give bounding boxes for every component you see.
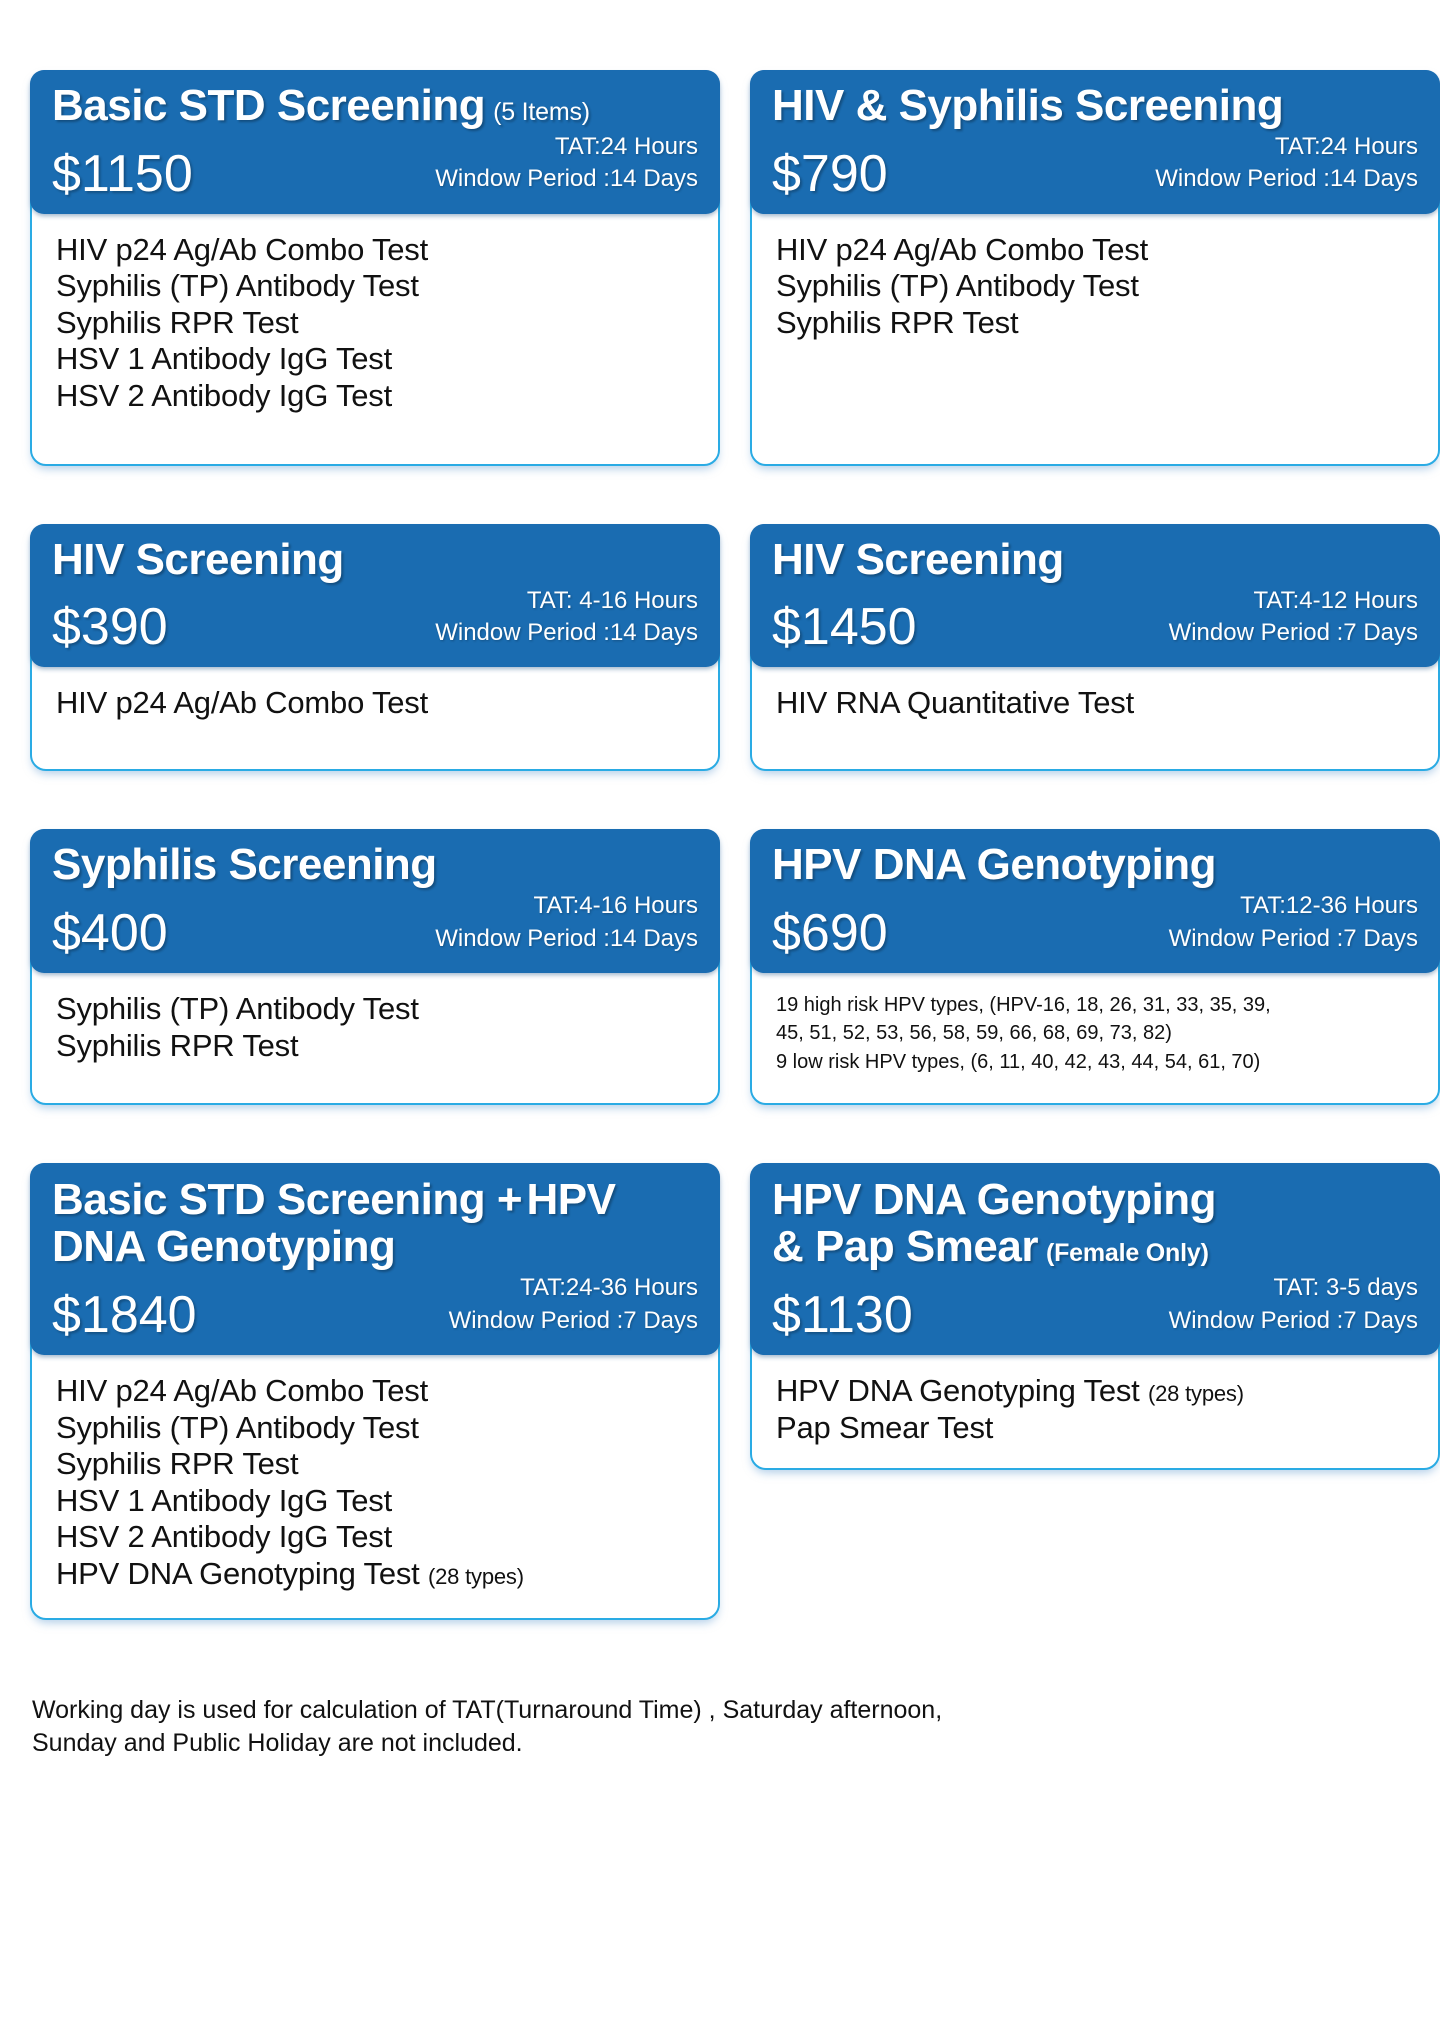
tat-value: TAT:12-36 Hours bbox=[1169, 890, 1418, 922]
package-title-note: (Female Only) bbox=[1046, 1239, 1209, 1267]
tat-value: TAT:24 Hours bbox=[1155, 131, 1418, 163]
package-card-hpv-pap-smear[interactable]: HPV DNA Genotyping & Pap Smear(Female On… bbox=[750, 1163, 1440, 1470]
footer-note-line2: Sunday and Public Holiday are not includ… bbox=[32, 1727, 1312, 1760]
meta-row: $790 TAT:24 Hours Window Period :14 Days bbox=[772, 131, 1418, 200]
test-item: Syphilis (TP) Antibody Test bbox=[56, 268, 694, 305]
test-item: Syphilis (TP) Antibody Test bbox=[776, 268, 1414, 305]
package-title: Basic STD Screening bbox=[52, 81, 485, 130]
tat-block: TAT:24 Hours Window Period :14 Days bbox=[1155, 131, 1418, 200]
package-price: $1130 bbox=[772, 1289, 913, 1341]
window-period-value: Window Period :14 Days bbox=[435, 163, 698, 195]
hpv-types-line: 45, 51, 52, 53, 56, 58, 59, 66, 68, 69, … bbox=[776, 1019, 1414, 1047]
hpv-types-line: 19 high risk HPV types, (HPV-16, 18, 26,… bbox=[776, 991, 1414, 1019]
tat-value: TAT:24-36 Hours bbox=[449, 1272, 698, 1304]
package-price: $1150 bbox=[52, 148, 193, 200]
card-body: HIV RNA Quantitative Test bbox=[752, 667, 1438, 769]
meta-row: $400 TAT:4-16 Hours Window Period :14 Da… bbox=[52, 890, 698, 959]
package-title: HPV DNA Genotyping bbox=[772, 840, 1216, 889]
meta-row: $1840 TAT:24-36 Hours Window Period :7 D… bbox=[52, 1272, 698, 1341]
footer-note-line1: Working day is used for calculation of T… bbox=[32, 1694, 1312, 1727]
test-item: HSV 2 Antibody IgG Test bbox=[56, 1519, 694, 1556]
tat-block: TAT: 3-5 days Window Period :7 Days bbox=[1169, 1272, 1418, 1341]
test-item: Syphilis (TP) Antibody Test bbox=[56, 1410, 694, 1447]
tat-value: TAT:24 Hours bbox=[435, 131, 698, 163]
test-item: HPV DNA Genotyping Test (28 types) bbox=[56, 1556, 694, 1593]
hpv-types-line: 9 low risk HPV types, (6, 11, 40, 42, 43… bbox=[776, 1048, 1414, 1076]
package-card-hiv-syphilis-screening[interactable]: HIV & Syphilis Screening $790 TAT:24 Hou… bbox=[750, 70, 1440, 466]
tat-block: TAT:24 Hours Window Period :14 Days bbox=[435, 131, 698, 200]
window-period-value: Window Period :7 Days bbox=[449, 1305, 698, 1337]
window-period-value: Window Period :14 Days bbox=[435, 617, 698, 649]
price-list-page: Basic STD Screening(5 Items) $1150 TAT:2… bbox=[0, 0, 1440, 2036]
tat-block: TAT:12-36 Hours Window Period :7 Days bbox=[1169, 890, 1418, 959]
package-title-note: (5 Items) bbox=[493, 98, 590, 126]
package-title-line2-row: & Pap Smear(Female Only) bbox=[772, 1224, 1418, 1271]
card-header: Syphilis Screening $400 TAT:4-16 Hours W… bbox=[30, 829, 720, 973]
package-title: HIV Screening bbox=[52, 535, 344, 584]
package-title-line2: & Pap Smear bbox=[772, 1222, 1038, 1271]
card-body: HIV p24 Ag/Ab Combo Test Syphilis (TP) A… bbox=[32, 1355, 718, 1618]
title-row: HIV & Syphilis Screening bbox=[772, 84, 1418, 129]
test-item: HPV DNA Genotyping Test (28 types) bbox=[776, 1373, 1414, 1410]
package-card-hiv-screening-390[interactable]: HIV Screening $390 TAT: 4-16 Hours Windo… bbox=[30, 524, 720, 772]
package-grid: Basic STD Screening(5 Items) $1150 TAT:2… bbox=[30, 70, 1410, 1678]
title-row: HPV DNA Genotyping & Pap Smear(Female On… bbox=[772, 1177, 1418, 1270]
test-item-label: HPV DNA Genotyping Test bbox=[56, 1556, 420, 1591]
title-row: Syphilis Screening bbox=[52, 843, 698, 888]
package-card-basic-std-plus-hpv[interactable]: Basic STD Screening + HPV DNA Genotyping… bbox=[30, 1163, 720, 1621]
package-price: $390 bbox=[52, 601, 168, 653]
package-title-line1: HPV DNA Genotyping bbox=[772, 1175, 1216, 1224]
test-item: Syphilis RPR Test bbox=[56, 305, 694, 342]
card-body: HIV p24 Ag/Ab Combo Test Syphilis (TP) A… bbox=[752, 214, 1438, 464]
tat-value: TAT:4-16 Hours bbox=[435, 890, 698, 922]
package-card-basic-std-screening[interactable]: Basic STD Screening(5 Items) $1150 TAT:2… bbox=[30, 70, 720, 466]
window-period-value: Window Period :14 Days bbox=[435, 923, 698, 955]
card-header: HPV DNA Genotyping $690 TAT:12-36 Hours … bbox=[750, 829, 1440, 973]
card-body: Syphilis (TP) Antibody Test Syphilis RPR… bbox=[32, 973, 718, 1103]
package-title: HIV & Syphilis Screening bbox=[772, 81, 1283, 130]
card-header: Basic STD Screening(5 Items) $1150 TAT:2… bbox=[30, 70, 720, 214]
card-body: HIV p24 Ag/Ab Combo Test bbox=[32, 667, 718, 769]
title-row: HIV Screening bbox=[52, 538, 698, 583]
test-item: Syphilis RPR Test bbox=[56, 1028, 694, 1065]
test-item: HSV 1 Antibody IgG Test bbox=[56, 341, 694, 378]
tat-value: TAT: 3-5 days bbox=[1169, 1272, 1418, 1304]
test-item: HIV p24 Ag/Ab Combo Test bbox=[56, 1373, 694, 1410]
meta-row: $1450 TAT:4-12 Hours Window Period :7 Da… bbox=[772, 585, 1418, 654]
window-period-value: Window Period :7 Days bbox=[1169, 1305, 1418, 1337]
title-row: HIV Screening bbox=[772, 538, 1418, 583]
title-row: Basic STD Screening(5 Items) bbox=[52, 84, 698, 129]
tat-block: TAT:4-16 Hours Window Period :14 Days bbox=[435, 890, 698, 959]
meta-row: $390 TAT: 4-16 Hours Window Period :14 D… bbox=[52, 585, 698, 654]
package-price: $1840 bbox=[52, 1289, 197, 1341]
test-item-label: HPV DNA Genotyping Test bbox=[776, 1373, 1140, 1408]
test-item: Pap Smear Test bbox=[776, 1410, 1414, 1447]
test-item: Syphilis RPR Test bbox=[776, 305, 1414, 342]
package-card-syphilis-screening[interactable]: Syphilis Screening $400 TAT:4-16 Hours W… bbox=[30, 829, 720, 1105]
package-price: $1450 bbox=[772, 601, 917, 653]
window-period-value: Window Period :7 Days bbox=[1169, 617, 1418, 649]
test-item-note: (28 types) bbox=[1148, 1381, 1244, 1406]
package-title: HIV Screening bbox=[772, 535, 1064, 584]
title-row: HPV DNA Genotyping bbox=[772, 843, 1418, 888]
tat-block: TAT: 4-16 Hours Window Period :14 Days bbox=[435, 585, 698, 654]
package-price: $790 bbox=[772, 148, 888, 200]
package-card-hpv-dna-genotyping[interactable]: HPV DNA Genotyping $690 TAT:12-36 Hours … bbox=[750, 829, 1440, 1105]
card-header: HIV Screening $1450 TAT:4-12 Hours Windo… bbox=[750, 524, 1440, 668]
grid-column-left: Basic STD Screening(5 Items) $1150 TAT:2… bbox=[30, 70, 720, 1678]
tat-value: TAT:4-12 Hours bbox=[1169, 585, 1418, 617]
test-item: HSV 2 Antibody IgG Test bbox=[56, 378, 694, 415]
test-item: HIV p24 Ag/Ab Combo Test bbox=[56, 232, 694, 269]
window-period-value: Window Period :14 Days bbox=[1155, 163, 1418, 195]
tat-block: TAT:24-36 Hours Window Period :7 Days bbox=[449, 1272, 698, 1341]
meta-row: $690 TAT:12-36 Hours Window Period :7 Da… bbox=[772, 890, 1418, 959]
footer-note: Working day is used for calculation of T… bbox=[32, 1694, 1312, 1759]
card-header: HIV & Syphilis Screening $790 TAT:24 Hou… bbox=[750, 70, 1440, 214]
card-body: HPV DNA Genotyping Test (28 types) Pap S… bbox=[752, 1355, 1438, 1468]
test-item: Syphilis (TP) Antibody Test bbox=[56, 991, 694, 1028]
title-row: Basic STD Screening + HPV DNA Genotyping bbox=[52, 1177, 698, 1270]
package-price: $690 bbox=[772, 907, 888, 959]
card-header: Basic STD Screening + HPV DNA Genotyping… bbox=[30, 1163, 720, 1355]
card-body: 19 high risk HPV types, (HPV-16, 18, 26,… bbox=[752, 973, 1438, 1103]
test-item: HIV p24 Ag/Ab Combo Test bbox=[776, 232, 1414, 269]
tat-block: TAT:4-12 Hours Window Period :7 Days bbox=[1169, 585, 1418, 654]
grid-column-right: HIV & Syphilis Screening $790 TAT:24 Hou… bbox=[750, 70, 1440, 1528]
test-item: HIV RNA Quantitative Test bbox=[776, 685, 1414, 722]
test-item-note: (28 types) bbox=[428, 1564, 524, 1589]
test-item: HIV p24 Ag/Ab Combo Test bbox=[56, 685, 694, 722]
package-title: Syphilis Screening bbox=[52, 840, 437, 889]
window-period-value: Window Period :7 Days bbox=[1169, 923, 1418, 955]
card-header: HIV Screening $390 TAT: 4-16 Hours Windo… bbox=[30, 524, 720, 668]
card-body: HIV p24 Ag/Ab Combo Test Syphilis (TP) A… bbox=[32, 214, 718, 464]
test-item: HSV 1 Antibody IgG Test bbox=[56, 1483, 694, 1520]
package-price: $400 bbox=[52, 907, 168, 959]
meta-row: $1130 TAT: 3-5 days Window Period :7 Day… bbox=[772, 1272, 1418, 1341]
test-item: Syphilis RPR Test bbox=[56, 1446, 694, 1483]
tat-value: TAT: 4-16 Hours bbox=[435, 585, 698, 617]
package-card-hiv-screening-1450[interactable]: HIV Screening $1450 TAT:4-12 Hours Windo… bbox=[750, 524, 1440, 772]
package-title-line1: Basic STD Screening + bbox=[52, 1175, 522, 1224]
card-header: HPV DNA Genotyping & Pap Smear(Female On… bbox=[750, 1163, 1440, 1355]
meta-row: $1150 TAT:24 Hours Window Period :14 Day… bbox=[52, 131, 698, 200]
